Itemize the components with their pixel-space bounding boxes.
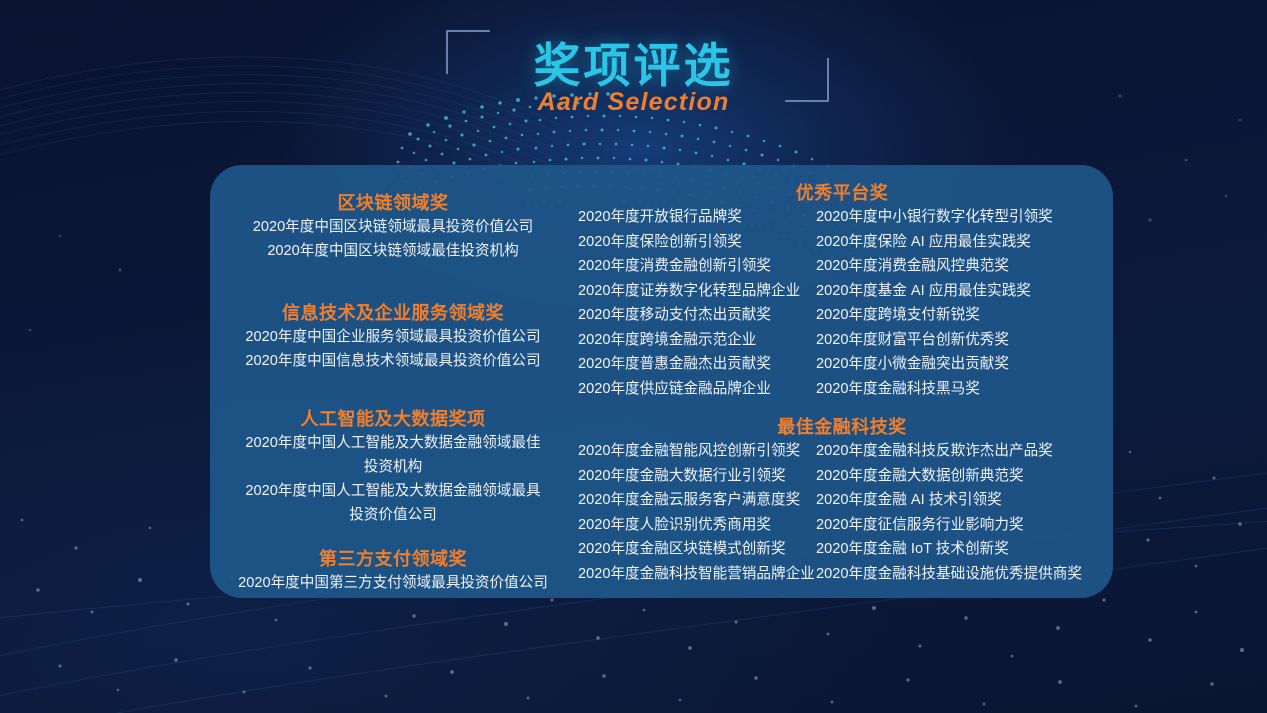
award-item: 投资机构 [218,455,568,479]
award-item: 2020年度保险创新引领奖 [578,230,816,255]
award-pair-list: 2020年度金融智能风控创新引领奖 2020年度金融科技反欺诈杰出产品奖 202… [578,439,1106,586]
award-item: 2020年度小微金融突出贡献奖 [816,352,1106,377]
award-item: 2020年度金融大数据行业引领奖 [578,464,816,489]
award-item: 2020年度征信服务行业影响力奖 [816,513,1106,538]
award-group-title: 区块链领域奖 [218,189,568,215]
award-item: 2020年度财富平台创新优秀奖 [816,328,1106,353]
award-item: 2020年度金融智能风控创新引领奖 [578,439,816,464]
award-item: 2020年度中国区块链领域最佳投资机构 [218,239,568,263]
award-item: 2020年度金融科技智能营销品牌企业 [578,562,816,587]
award-group-title: 优秀平台奖 [578,179,1106,205]
award-item: 2020年度移动支付杰出贡献奖 [578,303,816,328]
award-item: 2020年度中国第三方支付领域最具投资价值公司 [218,571,568,595]
award-item: 2020年度金融科技黑马奖 [816,377,1106,402]
award-item: 2020年度中国人工智能及大数据金融领域最佳 [218,431,568,455]
award-pair-list: 2020年度开放银行品牌奖 2020年度中小银行数字化转型引领奖 2020年度保… [578,205,1106,401]
award-item: 2020年度供应链金融品牌企业 [578,377,816,402]
awards-right-column: 优秀平台奖 2020年度开放银行品牌奖 2020年度中小银行数字化转型引领奖 2… [578,167,1106,586]
award-group-title: 信息技术及企业服务领域奖 [218,299,568,325]
award-item: 2020年度金融区块链模式创新奖 [578,537,816,562]
award-item: 2020年度基金 AI 应用最佳实践奖 [816,279,1106,304]
award-group-best-fintech: 最佳金融科技奖 2020年度金融智能风控创新引领奖 2020年度金融科技反欺诈杰… [578,413,1106,586]
award-item: 2020年度消费金融风控典范奖 [816,254,1106,279]
award-item: 2020年度消费金融创新引领奖 [578,254,816,279]
award-group-excellent-platform: 优秀平台奖 2020年度开放银行品牌奖 2020年度中小银行数字化转型引领奖 2… [578,179,1106,401]
award-item: 2020年度跨境支付新锐奖 [816,303,1106,328]
award-group-third-party-payment: 第三方支付领域奖 2020年度中国第三方支付领域最具投资价值公司 [218,545,568,595]
awards-left-column: 区块链领域奖 2020年度中国区块链领域最具投资价值公司 2020年度中国区块链… [218,179,568,595]
award-group-it-enterprise-service: 信息技术及企业服务领域奖 2020年度中国企业服务领域最具投资价值公司 2020… [218,299,568,373]
award-item: 投资价值公司 [218,503,568,527]
award-item: 2020年度金融大数据创新典范奖 [816,464,1106,489]
award-group-title: 最佳金融科技奖 [578,413,1106,439]
award-item: 2020年度中国区块链领域最具投资价值公司 [218,215,568,239]
award-item: 2020年度中小银行数字化转型引领奖 [816,205,1106,230]
award-item: 2020年度中国人工智能及大数据金融领域最具 [218,479,568,503]
award-group-title: 第三方支付领域奖 [218,545,568,571]
page-subtitle: Aard Selection [0,88,1267,117]
award-item: 2020年度金融科技反欺诈杰出产品奖 [816,439,1106,464]
award-item: 2020年度金融科技基础设施优秀提供商奖 [816,562,1106,587]
award-item: 2020年度开放银行品牌奖 [578,205,816,230]
award-item: 2020年度跨境金融示范企业 [578,328,816,353]
award-item: 2020年度金融 AI 技术引领奖 [816,488,1106,513]
award-group-ai-bigdata: 人工智能及大数据奖项 2020年度中国人工智能及大数据金融领域最佳 投资机构 2… [218,405,568,527]
award-item: 2020年度保险 AI 应用最佳实践奖 [816,230,1106,255]
award-item: 2020年度人脸识别优秀商用奖 [578,513,816,538]
award-item: 2020年度中国信息技术领域最具投资价值公司 [218,349,568,373]
slide-header: 奖项评选 Aard Selection [0,0,1267,170]
page-title: 奖项评选 [0,27,1267,96]
award-item: 2020年度中国企业服务领域最具投资价值公司 [218,325,568,349]
award-group-title: 人工智能及大数据奖项 [218,405,568,431]
award-group-blockchain: 区块链领域奖 2020年度中国区块链领域最具投资价值公司 2020年度中国区块链… [218,189,568,263]
awards-panel: 区块链领域奖 2020年度中国区块链领域最具投资价值公司 2020年度中国区块链… [210,165,1113,598]
award-item: 2020年度金融 IoT 技术创新奖 [816,537,1106,562]
slide-canvas: 奖项评选 Aard Selection 区块链领域奖 2020年度中国区块链领域… [0,0,1267,713]
award-item: 2020年度证券数字化转型品牌企业 [578,279,816,304]
award-item: 2020年度普惠金融杰出贡献奖 [578,352,816,377]
award-item: 2020年度金融云服务客户满意度奖 [578,488,816,513]
